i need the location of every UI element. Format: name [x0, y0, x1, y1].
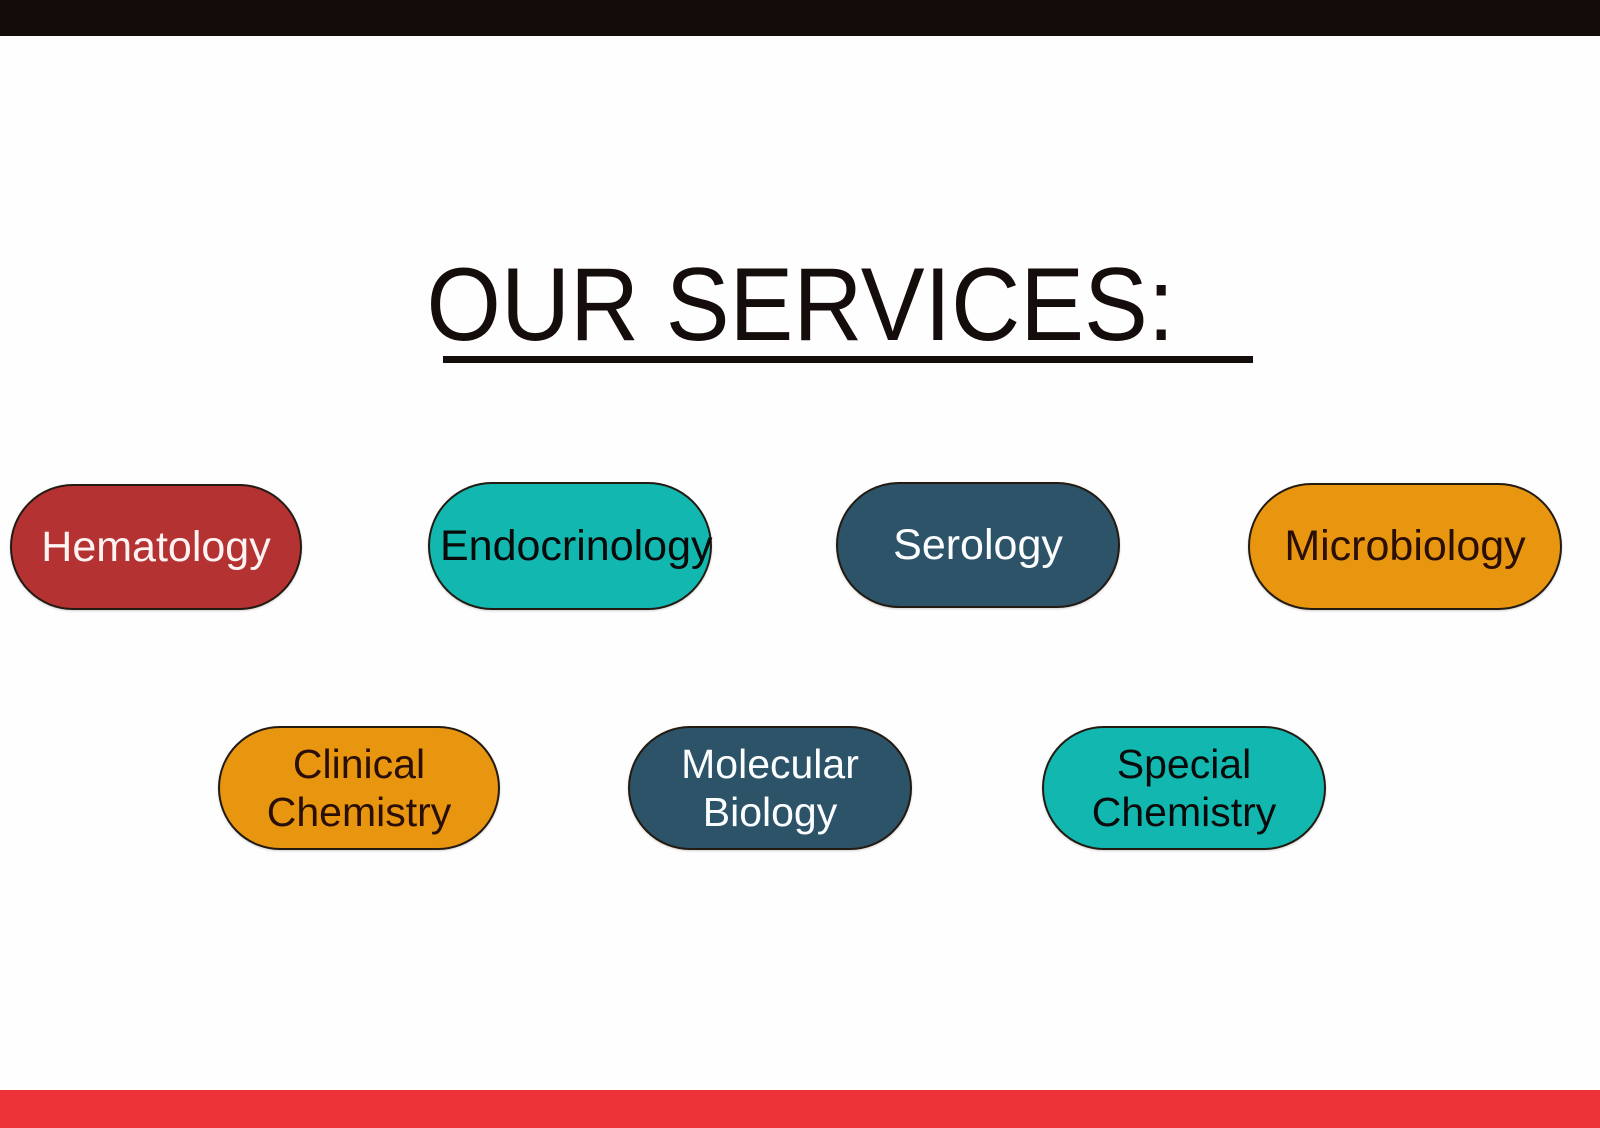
- service-pill-endocrinology[interactable]: Endocrinology: [428, 482, 712, 610]
- top-decorative-bar: [0, 0, 1600, 36]
- bottom-decorative-bar: [0, 1090, 1600, 1128]
- service-pill-label-line2: Chemistry: [1092, 789, 1277, 835]
- service-pill-label: Clinical Chemistry: [230, 740, 488, 837]
- service-pill-label-line2: Biology: [703, 789, 837, 835]
- service-pill-molecular-biology[interactable]: Molecular Biology: [628, 726, 912, 850]
- service-pill-microbiology[interactable]: Microbiology: [1248, 483, 1562, 610]
- service-pill-label-line1: Clinical: [293, 741, 425, 787]
- service-pill-label: Microbiology: [1260, 521, 1550, 572]
- service-pill-label: Molecular Biology: [640, 740, 900, 837]
- service-pill-serology[interactable]: Serology: [836, 482, 1120, 608]
- service-pill-hematology[interactable]: Hematology: [10, 484, 302, 610]
- slide-canvas: OUR SERVICES: Hematology Endocrinology S…: [0, 0, 1600, 1128]
- service-pill-label-line1: Molecular: [681, 741, 859, 787]
- page-title-container: OUR SERVICES:: [0, 252, 1600, 368]
- service-pill-label: Special Chemistry: [1054, 740, 1314, 837]
- service-pill-label: Hematology: [22, 522, 290, 573]
- service-pill-label: Endocrinology: [440, 521, 700, 572]
- page-title-underline: [443, 356, 1253, 363]
- service-pill-label-line2: Chemistry: [267, 789, 452, 835]
- service-pill-label: Serology: [848, 520, 1108, 571]
- page-title: OUR SERVICES:: [422, 252, 1177, 368]
- service-pill-clinical-chemistry[interactable]: Clinical Chemistry: [218, 726, 500, 850]
- service-pill-special-chemistry[interactable]: Special Chemistry: [1042, 726, 1326, 850]
- service-pill-label-line1: Special: [1117, 741, 1251, 787]
